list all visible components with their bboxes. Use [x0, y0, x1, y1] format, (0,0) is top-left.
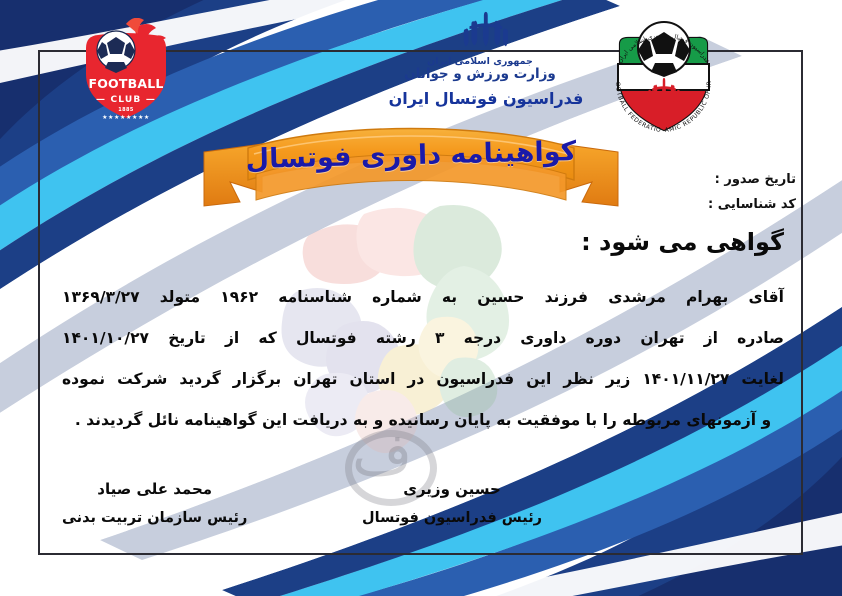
signature-federation-president: حسین وزیری رئیس فدراسیون فوتسال: [362, 478, 542, 530]
iran-emblem-icon: [457, 8, 515, 56]
svg-text:★★★★★★★★: ★★★★★★★★: [102, 114, 150, 121]
certify-heading: گواهی می شود :: [581, 228, 784, 256]
certificate-page: ف FOOTBALL — CLUB — 1885 ★★★★★★★★: [0, 0, 842, 596]
signatory-name: حسین وزیری: [362, 478, 542, 501]
svg-text:1885: 1885: [118, 107, 134, 113]
signatory-title: رئیس سازمان تربیت بدنی: [62, 507, 247, 530]
issue-date-label: تاریخ صدور :: [715, 172, 796, 187]
signature-physical-education-head: محمد علی صیاد رئیس سازمان تربیت بدنی: [62, 478, 247, 530]
identity-code-field[interactable]: کد شناسایی :: [708, 193, 796, 218]
federation-name: فدراسیون فوتسال ایران: [366, 89, 606, 108]
svg-text:— CLUB —: — CLUB —: [96, 95, 156, 105]
body-line-4: و آزمونهای مربوطه را با موفقیت به پایان …: [62, 405, 784, 436]
ministry-line-2: وزارت ورزش و جوانان: [360, 67, 600, 83]
signature-block: حسین وزیری رئیس فدراسیون فوتسال محمد علی…: [62, 478, 542, 530]
signatory-name: محمد علی صیاد: [62, 478, 247, 501]
football-club-flame-badge: FOOTBALL — CLUB — 1885 ★★★★★★★★: [72, 18, 180, 128]
body-line-2: صادره از تهران دوره داوری درجه ۳ رشته فو…: [62, 323, 784, 354]
issue-date-field[interactable]: تاریخ صدور :: [708, 168, 796, 193]
meta-fields: تاریخ صدور : کد شناسایی :: [708, 168, 796, 217]
signatory-title: رئیس فدراسیون فوتسال: [362, 507, 542, 530]
ministry-header: جمهوری اسلامی ایران وزارت ورزش و جوانان …: [366, 8, 606, 108]
body-line-1: آقای بهرام مرشدی فرزند حسین به شماره شنا…: [62, 282, 784, 313]
svg-text:FOOTBALL: FOOTBALL: [88, 76, 163, 91]
body-line-3: لغایت ۱۴۰۱/۱۱/۲۷ زیر نظر این فدراسیون در…: [62, 364, 784, 395]
title-ribbon: [196, 126, 626, 230]
iran-football-federation-crest: فدراسیون فوتبال جمهوری اسلامی ایران FOOT…: [596, 8, 731, 140]
certificate-body: آقای بهرام مرشدی فرزند حسین به شماره شنا…: [62, 282, 784, 446]
identity-code-label: کد شناسایی :: [708, 197, 796, 212]
